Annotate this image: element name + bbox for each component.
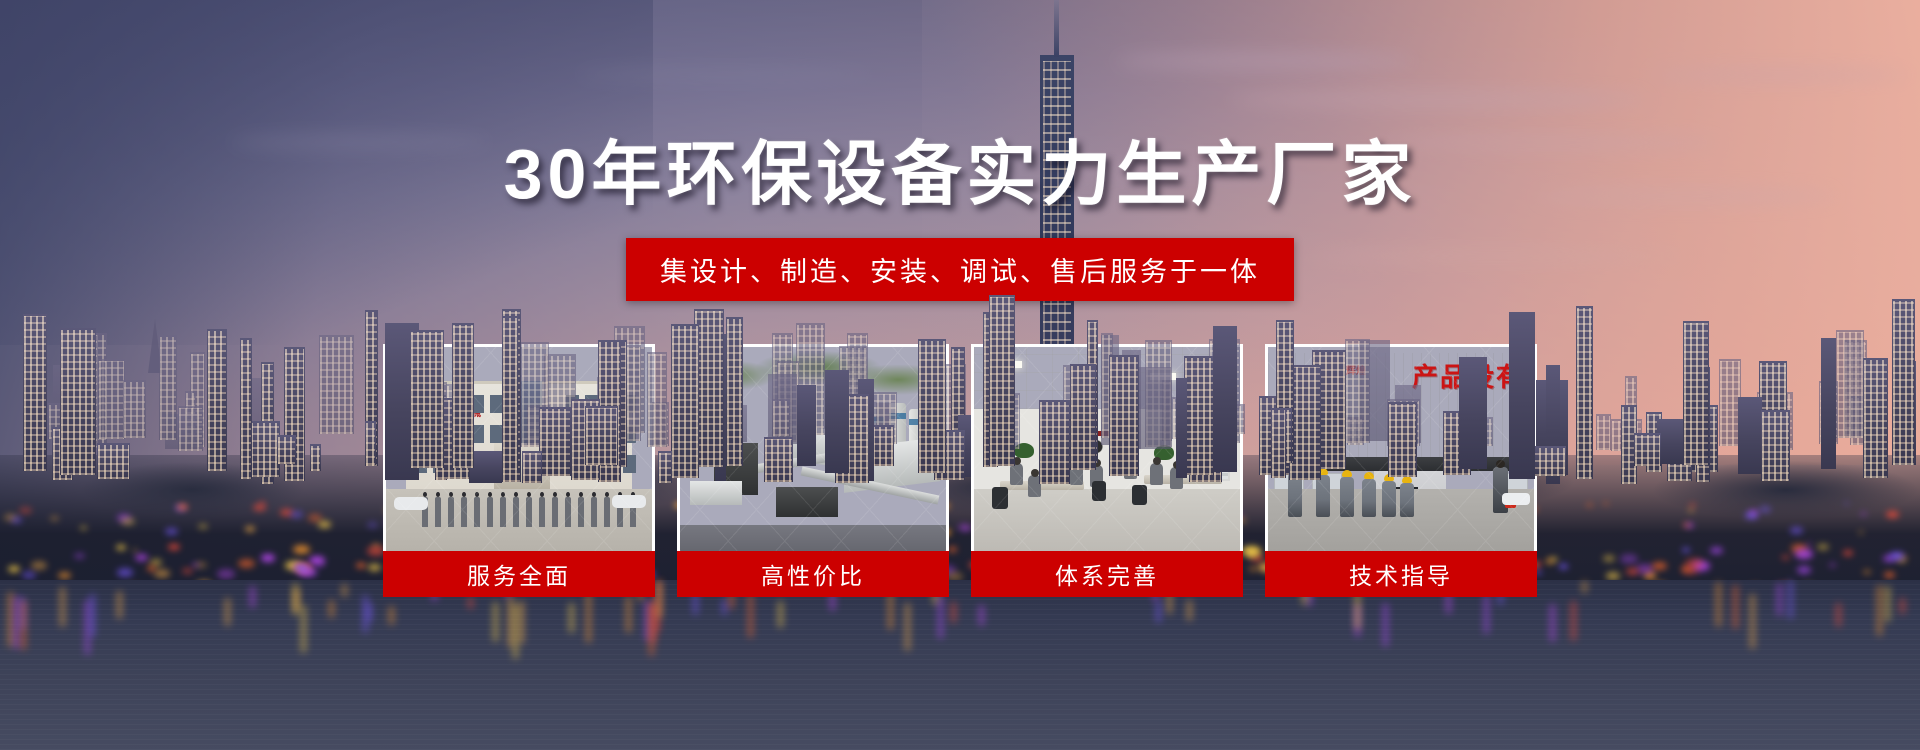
card-caption: 技术指导 <box>1265 551 1537 597</box>
card-caption: 服务全面 <box>383 551 655 597</box>
card-caption: 高性价比 <box>677 551 949 597</box>
page-title: 30年环保设备实力生产厂家 <box>0 118 1920 219</box>
card-caption: 体系完善 <box>971 551 1243 597</box>
hero-banner: 30年环保设备实力生产厂家 集设计、制造、安装、调试、售后服务于一体 中基机械 … <box>0 0 1920 750</box>
city-skyline <box>0 270 1920 485</box>
subtitle-banner: 集设计、制造、安装、调试、售后服务于一体 <box>626 238 1294 301</box>
river-water <box>0 580 1920 750</box>
